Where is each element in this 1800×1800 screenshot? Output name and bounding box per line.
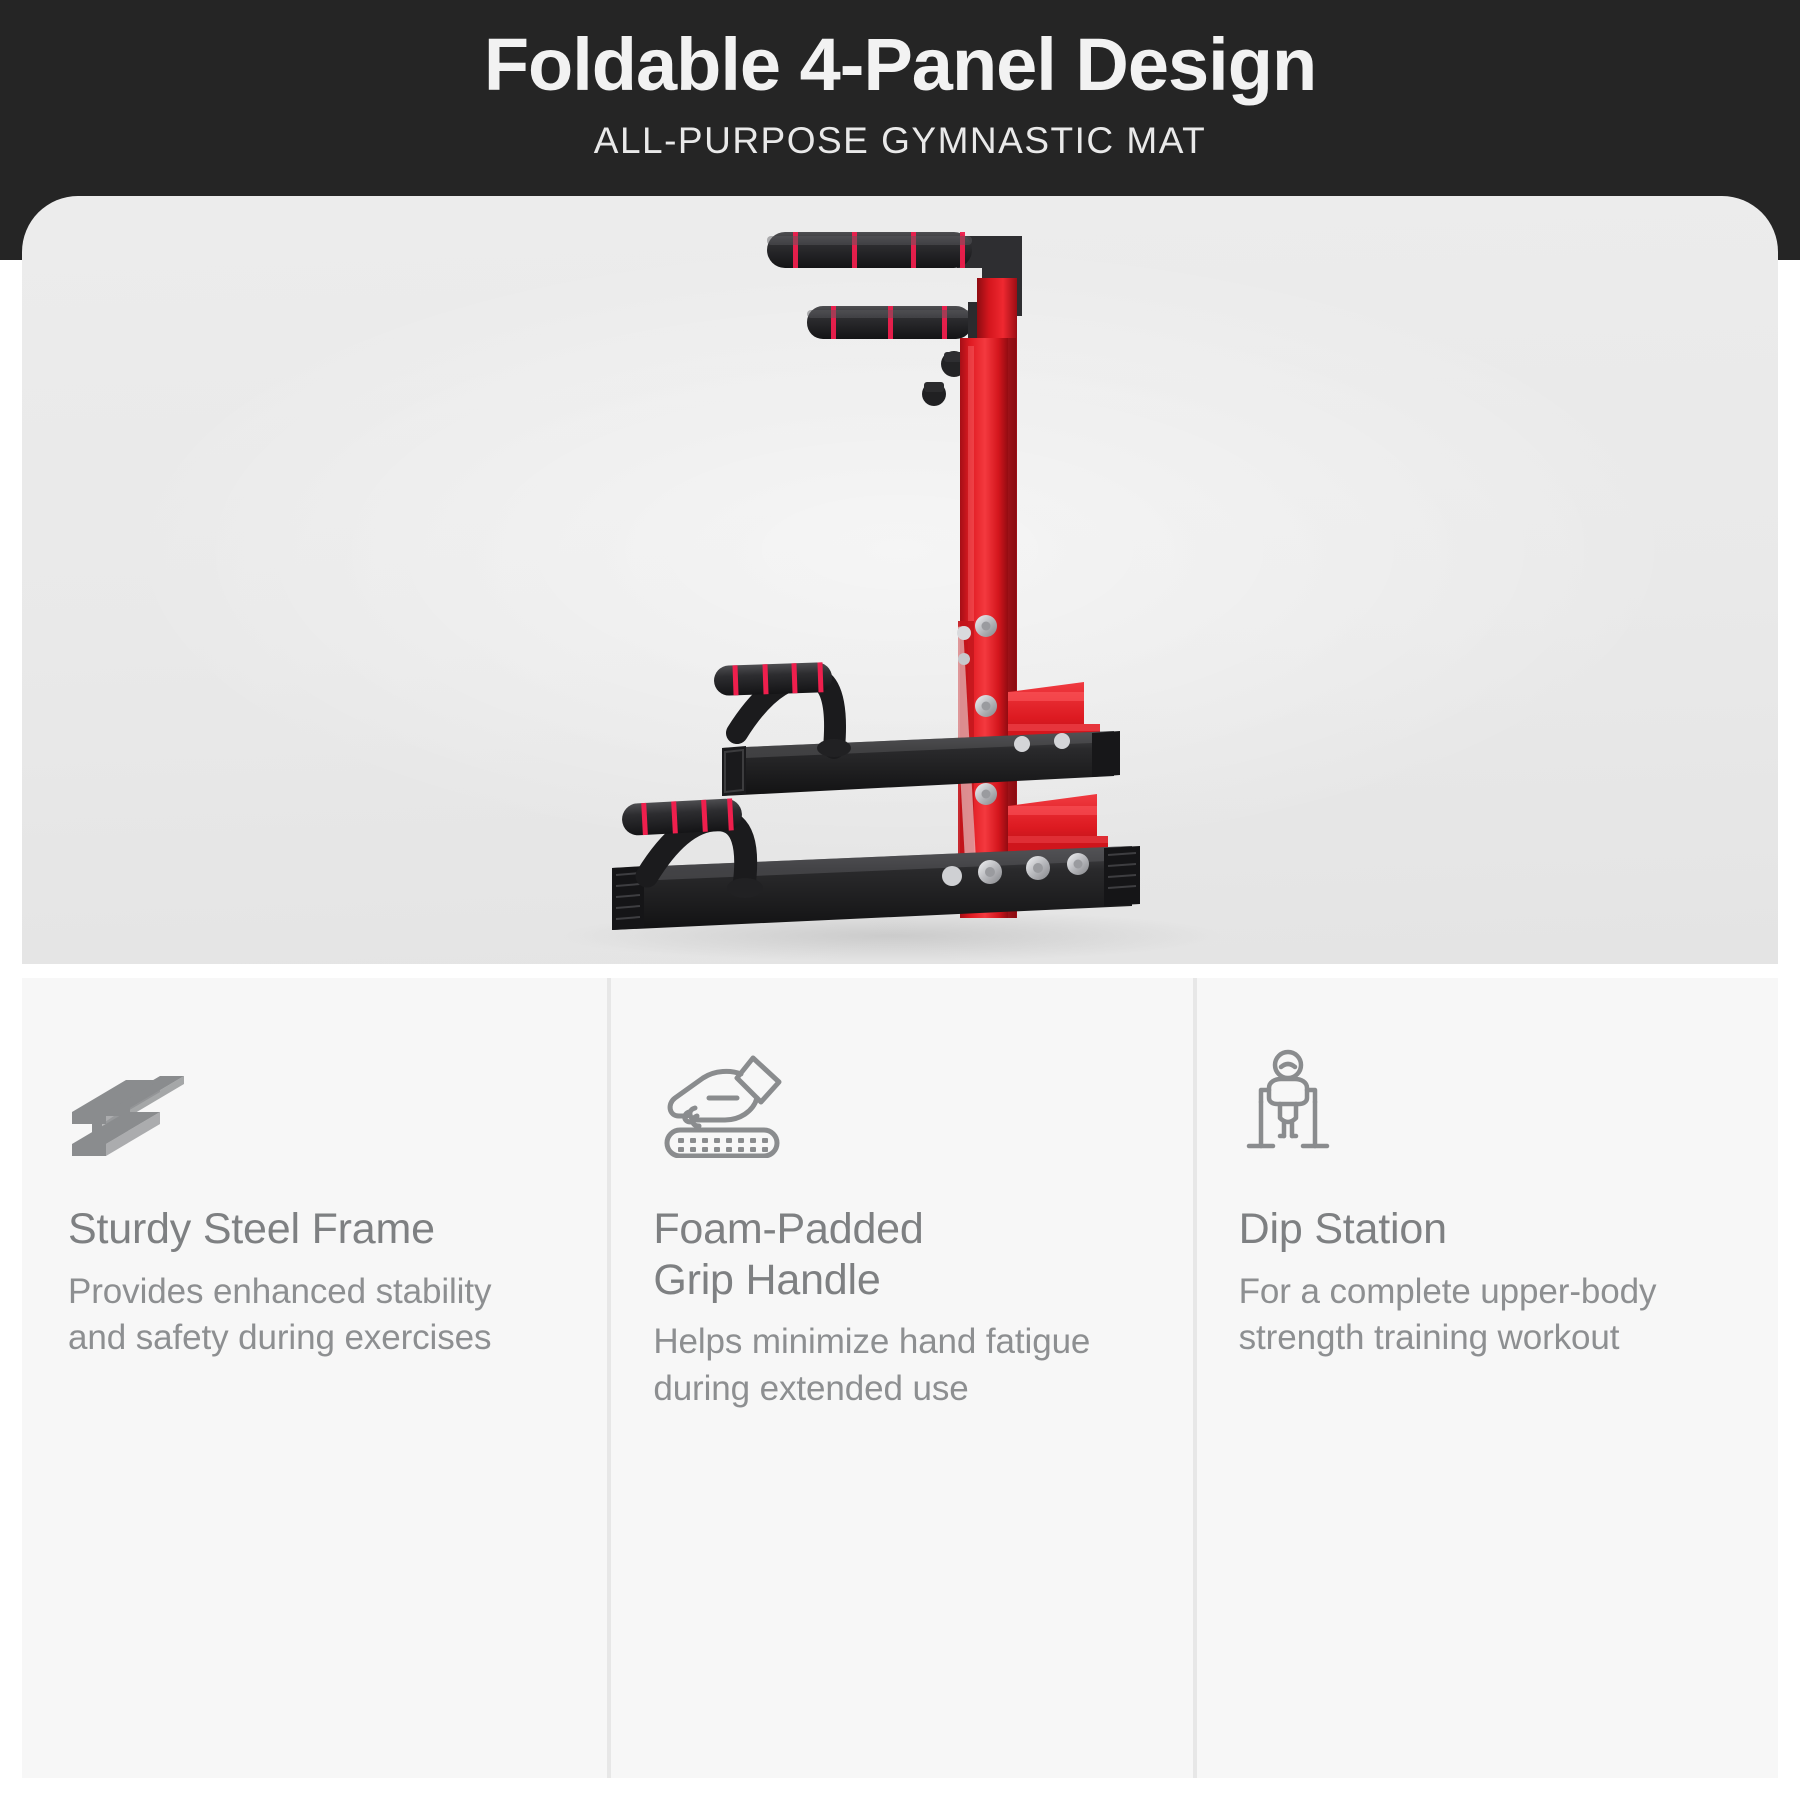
upper-support-and-rear-foot <box>714 662 1120 796</box>
feature-card-title: Dip Station <box>1239 1204 1732 1255</box>
page-title: Foldable 4-Panel Design <box>484 26 1316 104</box>
feature-card-body: For a complete upper-body strength train… <box>1239 1269 1732 1362</box>
feature-card-title: Foam-Padded Grip Handle <box>653 1204 1146 1305</box>
feature-card-title: Sturdy Steel Frame <box>68 1204 561 1255</box>
product-photo-dip-station <box>22 196 1778 964</box>
hand-on-foam-pad-icon <box>653 1040 803 1158</box>
product-feature-infographic: Foldable 4-Panel Design ALL-PURPOSE GYMN… <box>0 0 1800 1800</box>
dip-station-person-icon <box>1239 1040 1389 1158</box>
feature-card-dip-station: Dip Station For a complete upper-body st… <box>1193 978 1778 1778</box>
steel-beam-icon <box>68 1040 218 1158</box>
product-image-panel <box>22 196 1778 964</box>
feature-card-foam-padded-grip-handle: Foam-Padded Grip Handle Helps minimize h… <box>607 978 1192 1778</box>
feature-card-sturdy-steel-frame: Sturdy Steel Frame Provides enhanced sta… <box>22 978 607 1778</box>
feature-cards-row: Sturdy Steel Frame Provides enhanced sta… <box>22 978 1778 1778</box>
feature-card-body: Provides enhanced stability and safety d… <box>68 1269 561 1362</box>
feature-card-body: Helps minimize hand fatigue during exten… <box>653 1319 1146 1412</box>
page-subtitle: ALL-PURPOSE GYMNASTIC MAT <box>594 120 1206 162</box>
